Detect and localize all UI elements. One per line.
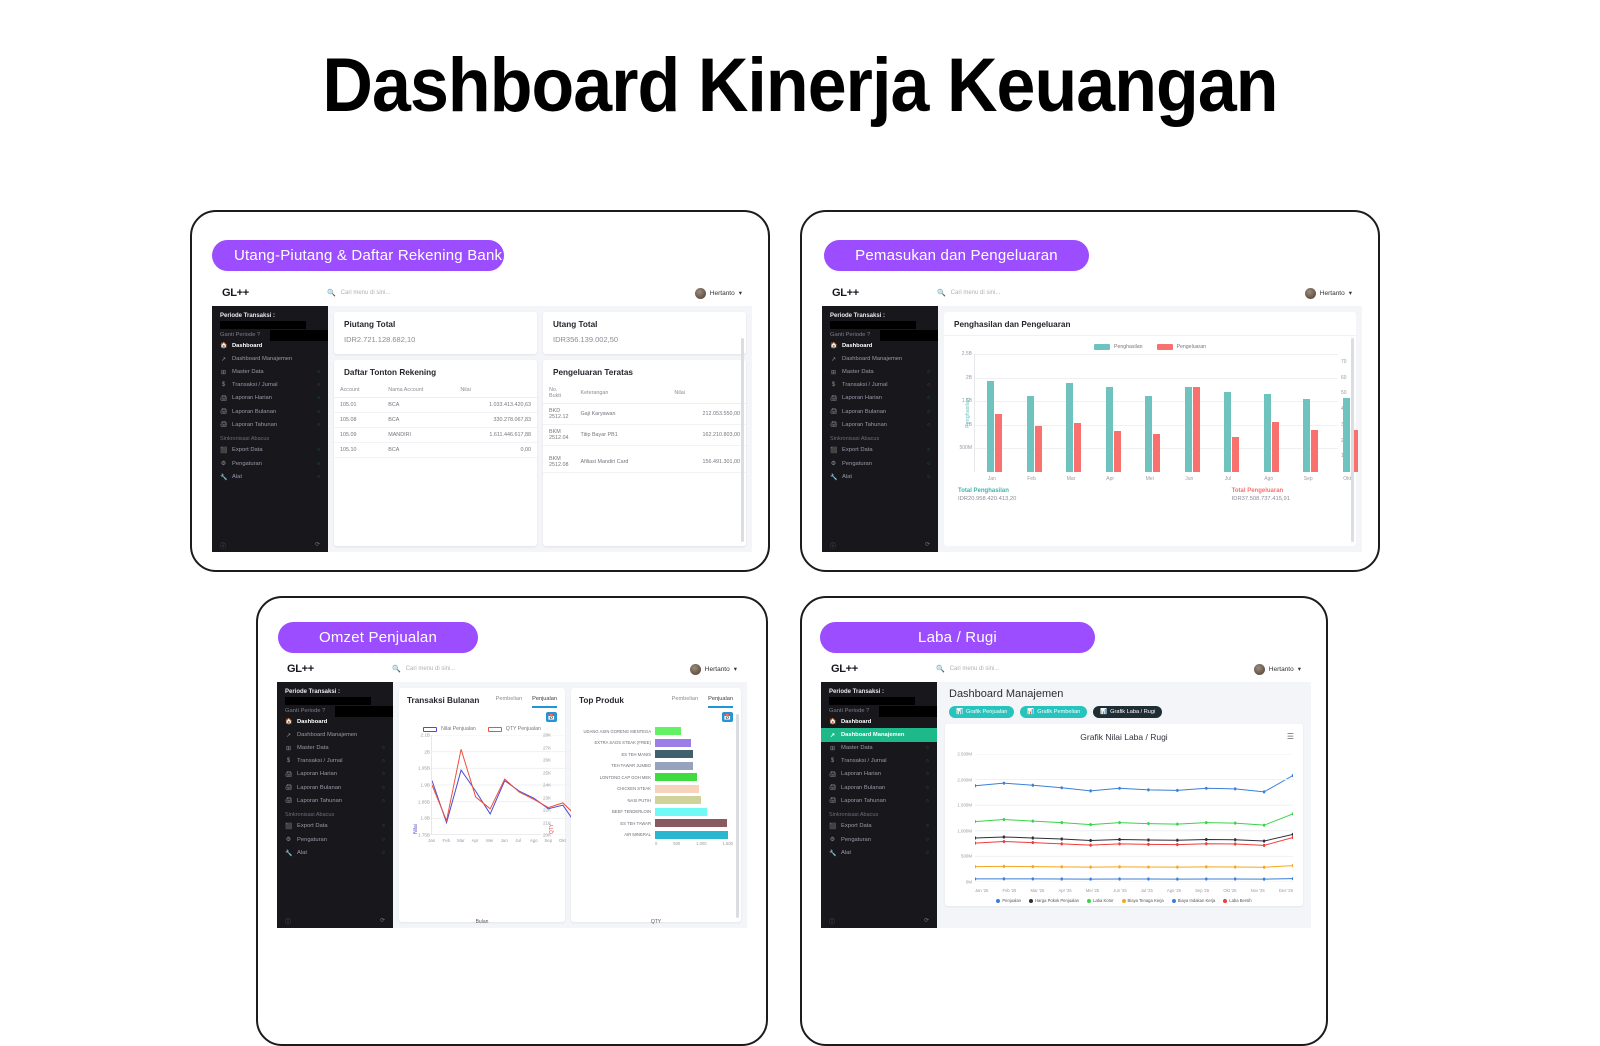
tab-grafik-pembelian[interactable]: 📊Grafik Pembelian	[1020, 706, 1087, 718]
legend-item-qty-penjualan[interactable]: QTY Penjualan	[488, 726, 541, 732]
data-point[interactable]	[1089, 789, 1091, 792]
sidebar-item-badge: ○	[926, 758, 929, 764]
sidebar-item-alat[interactable]: 🔧Alat○	[277, 846, 393, 859]
export-icon: ⬛	[829, 823, 836, 830]
bar-penghasilan[interactable]	[1343, 398, 1350, 472]
tab-pembelian[interactable]: Pembelian	[496, 696, 522, 708]
table-row[interactable]: BKM 2512.08Afiliasi Mandiri Card156.491.…	[543, 446, 746, 473]
sidebar-item-label: Dashboard	[297, 719, 327, 725]
data-point[interactable]	[1003, 877, 1005, 880]
user-menu[interactable]: Hertanto ▾	[690, 664, 737, 675]
bar-group[interactable]	[1145, 396, 1160, 472]
data-point[interactable]	[1118, 821, 1120, 824]
cell-account: 105.08	[334, 413, 382, 428]
user-menu[interactable]: Hertanto ▾	[695, 288, 742, 299]
bar[interactable]	[655, 796, 701, 804]
calendar-icon[interactable]: 📅	[722, 712, 733, 722]
chart-line-icon: ↗	[285, 732, 292, 739]
gridline	[975, 354, 1338, 355]
bar-pengeluaran[interactable]	[995, 414, 1002, 472]
data-point[interactable]	[1061, 786, 1063, 789]
table-row[interactable]: 105.08BCA330.278.067,83	[334, 413, 537, 428]
bar-group[interactable]	[1224, 392, 1239, 472]
sidebar-footer: ⓘ ⟳	[212, 541, 328, 550]
sidebar-item-export-data[interactable]: ⬛Export Data○	[212, 444, 328, 457]
data-point[interactable]	[1205, 842, 1207, 845]
refresh-icon[interactable]: ⟳	[380, 917, 385, 926]
bar-pengeluaran[interactable]	[1232, 437, 1239, 472]
bar-pengeluaran[interactable]	[1193, 387, 1200, 472]
legend-item[interactable]: Laba Kotor	[1087, 898, 1114, 903]
sidebar-item-label: Laporan Tahunan	[297, 798, 342, 804]
bar-penghasilan[interactable]	[1264, 394, 1271, 472]
y-axis-tick: 2.000M	[957, 777, 972, 782]
cell-nilai: 330.278.067,83	[454, 413, 537, 428]
bar-row[interactable]: ES TEH MANIS	[579, 749, 733, 759]
data-point[interactable]	[1118, 838, 1120, 841]
sidebar-period-value-redacted	[220, 321, 306, 329]
bar-group[interactable]	[987, 381, 1002, 472]
data-point[interactable]	[1089, 866, 1091, 869]
sidebar-item-transaksi-jurnal[interactable]: $Transaksi / Jurnal○	[822, 379, 938, 391]
bar-group[interactable]	[1027, 396, 1042, 472]
calendar-icon[interactable]: 📅	[546, 712, 557, 722]
tab-penjualan[interactable]: Penjualan	[532, 696, 557, 708]
bar-penghasilan[interactable]	[1185, 387, 1192, 472]
data-point[interactable]	[1003, 818, 1005, 821]
x-axis-tick: Mei	[1146, 476, 1154, 482]
bar-row[interactable]: ES TEH TAWAR	[579, 818, 733, 828]
chevron-down-icon: ▾	[739, 289, 742, 297]
refresh-icon[interactable]: ⟳	[924, 917, 929, 926]
data-point[interactable]	[1118, 787, 1120, 790]
grid-icon: ⊞	[285, 745, 292, 752]
data-point[interactable]	[1205, 787, 1207, 790]
bar-group[interactable]	[1264, 394, 1279, 472]
sidebar-item-laporan-tahunan[interactable]: 🖨Laporan Tahunan○	[822, 418, 938, 431]
tab-pembelian[interactable]: Pembelian	[672, 696, 698, 708]
bar-penghasilan[interactable]	[1066, 383, 1073, 472]
data-point[interactable]	[1061, 837, 1063, 840]
bar-pengeluaran[interactable]	[1272, 422, 1279, 472]
x-axis-tick: Jan	[988, 476, 996, 482]
sidebar-item-pengaturan[interactable]: ⚙Pengaturan○	[277, 833, 393, 846]
data-point[interactable]	[1176, 839, 1178, 842]
sidebar-item-laporan-bulanan[interactable]: 🖨Laporan Bulanan○	[212, 405, 328, 418]
data-point[interactable]	[975, 865, 976, 868]
sidebar-item-badge: ○	[317, 395, 320, 401]
data-point[interactable]	[1147, 788, 1149, 791]
table-row[interactable]: BKM 2512.04Titip Bayar PB1162.210.803,00	[543, 425, 746, 446]
legend-item[interactable]: Laba Bersih	[1223, 898, 1251, 903]
data-point[interactable]	[1263, 866, 1265, 869]
data-point[interactable]	[1234, 877, 1236, 880]
sidebar-change-period[interactable]: Ganti Periode ?	[277, 707, 393, 715]
sidebar-item-badge: ○	[317, 461, 320, 467]
bar-pengeluaran[interactable]	[1074, 423, 1081, 472]
table-row[interactable]: 105.01BCA1.033.413.420,63	[334, 398, 537, 413]
sidebar-period-title: Periode Transaksi :	[277, 687, 393, 696]
data-point[interactable]	[1234, 787, 1236, 790]
x-axis-tick: Nov '25	[1251, 888, 1265, 893]
data-point[interactable]	[1263, 844, 1265, 847]
data-point[interactable]	[1263, 878, 1265, 881]
sidebar-item-laporan-harian[interactable]: 🖨Laporan Harian○	[277, 768, 393, 781]
data-point[interactable]	[975, 836, 976, 839]
sidebar-item-laporan-harian[interactable]: 🖨Laporan Harian○	[212, 392, 328, 405]
data-point[interactable]	[1147, 822, 1149, 825]
sidebar-change-period[interactable]: Ganti Periode ?	[822, 331, 938, 339]
user-name: Hertanto	[1320, 290, 1345, 297]
bar[interactable]	[655, 739, 691, 747]
bar-pengeluaran[interactable]	[1114, 431, 1121, 472]
data-point[interactable]	[1003, 835, 1005, 838]
scrollbar[interactable]	[736, 714, 739, 918]
sidebar-item-laporan-tahunan[interactable]: 🖨Laporan Tahunan○	[821, 794, 937, 807]
data-point[interactable]	[1176, 866, 1178, 869]
table-row[interactable]: 105.09MANDIRI1.611.446.617,88	[334, 428, 537, 443]
bar-penghasilan[interactable]	[1027, 396, 1034, 472]
redaction-block	[879, 706, 937, 717]
avatar	[1305, 288, 1316, 299]
user-name: Hertanto	[705, 666, 730, 673]
bar-pengeluaran[interactable]	[1153, 434, 1160, 472]
data-point[interactable]	[1032, 841, 1034, 844]
data-point[interactable]	[1118, 865, 1120, 868]
bar-group[interactable]	[1303, 399, 1318, 472]
sidebar-item-transaksi-jurnal[interactable]: $Transaksi / Jurnal○	[277, 755, 393, 767]
x-axis-tick: Jan	[428, 838, 435, 843]
search-bar[interactable]: 🔍 Cari menu di sini...	[327, 289, 390, 297]
chart-line-icon: ↗	[829, 732, 836, 739]
data-point[interactable]	[1234, 822, 1236, 825]
cell-keterangan: Gaji Karyawan	[574, 404, 668, 425]
sidebar-item-label: Master Data	[232, 369, 264, 375]
content-area: Transaksi Bulanan Pembelian Penjualan 📅 …	[393, 682, 747, 928]
content-area: Penghasilan dan Pengeluaran Penghasilan …	[938, 306, 1362, 552]
sidebar-item-transaksi-jurnal[interactable]: $Transaksi / Jurnal○	[821, 755, 937, 767]
sidebar-item-export-data[interactable]: ⬛Export Data○	[822, 444, 938, 457]
bar-group[interactable]	[1185, 387, 1200, 472]
cell-no-bukti: BKM 2512.04	[543, 425, 574, 446]
chart-card-penghasilan-pengeluaran: Penghasilan dan Pengeluaran Penghasilan …	[944, 312, 1356, 546]
sidebar-item-export-data[interactable]: ⬛Export Data○	[821, 820, 937, 833]
total-value: IDR37.508.737.415,91	[1232, 496, 1290, 502]
bar-pengeluaran[interactable]	[1035, 426, 1042, 472]
sidebar-item-alat[interactable]: 🔧Alat○	[212, 470, 328, 483]
data-point[interactable]	[1205, 821, 1207, 824]
bar-row[interactable]: NASI PUTIH	[579, 795, 733, 805]
sidebar-item-dashboard-manajemen[interactable]: ↗Dashboard Manajemen	[212, 352, 328, 365]
printer-icon: 🖨	[220, 421, 227, 428]
bar-penghasilan[interactable]	[1145, 396, 1152, 472]
scrollbar[interactable]	[1351, 338, 1354, 542]
sidebar-item-master-data[interactable]: ⊞Master Data○	[277, 742, 393, 755]
grid-icon: ⊞	[220, 369, 227, 376]
gear-icon: ⚙	[220, 460, 227, 467]
data-point[interactable]	[1205, 877, 1207, 880]
bar-penghasilan[interactable]	[987, 381, 994, 472]
sidebar-item-label: Alat	[297, 850, 307, 856]
sidebar-item-pengaturan[interactable]: ⚙Pengaturan○	[821, 833, 937, 846]
y-axis-tick-right: 22K	[543, 808, 551, 813]
data-point[interactable]	[975, 820, 976, 823]
bar[interactable]	[655, 762, 693, 770]
sidebar-item-laporan-bulanan[interactable]: 🖨Laporan Bulanan○	[821, 781, 937, 794]
sidebar-change-period[interactable]: Ganti Periode ?	[821, 707, 937, 715]
sidebar-item-badge: ○	[382, 785, 385, 791]
legend-item-penghasilan[interactable]: Penghasilan	[1094, 344, 1143, 350]
data-point[interactable]	[1089, 839, 1091, 842]
card-piutang-total: Piutang Total IDR2.721.128.682,10	[334, 312, 537, 354]
legend-swatch	[1122, 899, 1126, 903]
bar[interactable]	[655, 750, 693, 758]
legend-label: Penghasilan	[1114, 344, 1143, 350]
data-point[interactable]	[1061, 842, 1063, 845]
legend-label: Laba Bersih	[1229, 898, 1251, 903]
search-bar[interactable]: 🔍 Cari menu di sini...	[392, 665, 455, 673]
total-label: Total Penghasilan	[958, 488, 1016, 494]
sidebar-item-laporan-bulanan[interactable]: 🖨Laporan Bulanan○	[277, 781, 393, 794]
data-point[interactable]	[1147, 877, 1149, 880]
data-point[interactable]	[1234, 838, 1236, 841]
data-point[interactable]	[1032, 865, 1034, 868]
data-point[interactable]	[1176, 823, 1178, 826]
menu-icon[interactable]: ☰	[1287, 732, 1295, 741]
cell-no-bukti: BKD 2512.12	[543, 404, 574, 425]
tab-penjualan[interactable]: Penjualan	[708, 696, 733, 708]
data-point[interactable]	[975, 784, 976, 787]
sidebar-item-label: Laporan Harian	[232, 395, 272, 401]
data-point[interactable]	[1147, 838, 1149, 841]
info-icon[interactable]: ⓘ	[220, 541, 226, 550]
app-topbar: GL++ 🔍 Cari menu di sini... Hertanto ▾	[277, 656, 747, 682]
data-point[interactable]	[1003, 782, 1005, 785]
printer-icon: 🖨	[829, 797, 836, 804]
sidebar-item-label: Transaksi / Jurnal	[297, 758, 343, 764]
search-input[interactable]: Cari menu di sini...	[951, 290, 1001, 296]
data-point[interactable]	[1205, 865, 1207, 868]
search-input[interactable]: Cari menu di sini...	[950, 666, 1000, 672]
legend-item[interactable]: Harga Pokok Penjualan	[1029, 898, 1079, 903]
bar-penghasilan[interactable]	[1303, 399, 1310, 472]
sidebar-section-label: Sinkronisasi Abacus	[212, 432, 328, 444]
data-point[interactable]	[1147, 843, 1149, 846]
sidebar-item-label: Pengaturan	[232, 461, 262, 467]
sidebar-item-laporan-tahunan[interactable]: 🖨Laporan Tahunan○	[277, 794, 393, 807]
data-point[interactable]	[1118, 842, 1120, 845]
info-icon[interactable]: ⓘ	[830, 541, 836, 550]
sidebar-item-master-data[interactable]: ⊞Master Data○	[212, 366, 328, 379]
sidebar-change-period-label: Ganti Periode ?	[220, 332, 260, 338]
data-point[interactable]	[1089, 823, 1091, 826]
info-icon[interactable]: ⓘ	[829, 917, 835, 926]
bar[interactable]	[655, 773, 697, 781]
sidebar-item-label: Pengaturan	[841, 837, 871, 843]
legend-item[interactable]: Biaya Indakan Kerja	[1172, 898, 1215, 903]
data-point[interactable]	[1061, 865, 1063, 868]
scrollbar[interactable]	[741, 338, 744, 542]
sidebar-item-badge: ○	[382, 745, 385, 751]
sidebar-item-dashboard[interactable]: 🏠Dashboard	[212, 339, 328, 352]
data-point[interactable]	[1147, 865, 1149, 868]
tab-grafik-laba-rugi[interactable]: 📊Grafik Laba / Rugi	[1093, 706, 1162, 718]
legend-item[interactable]: Penjualan	[996, 898, 1021, 903]
data-point[interactable]	[1263, 839, 1265, 842]
home-icon: 🏠	[829, 718, 836, 725]
legend-label: Laba Kotor	[1093, 898, 1114, 903]
sidebar-item-badge: ○	[927, 461, 930, 467]
bar-row[interactable]: EXTRA SAOS STEAK (FREE)	[579, 738, 733, 748]
sidebar-item-laporan-harian[interactable]: 🖨Laporan Harian○	[821, 768, 937, 781]
tab-grafik-penjualan[interactable]: 📊Grafik Penjualan	[949, 706, 1014, 718]
legend-item-nilai-penjualan[interactable]: Nilai Penjualan	[423, 726, 476, 732]
col-nama-account: Nama Account	[382, 383, 454, 398]
bar-row[interactable]: LONTONG CAP GOH MEK	[579, 772, 733, 782]
x-axis-tick: Ago	[1264, 476, 1273, 482]
x-axis-tick: Jun '25	[1113, 888, 1126, 893]
data-point[interactable]	[1234, 865, 1236, 868]
y-axis-tick-left: 1.5B	[962, 398, 972, 404]
chevron-down-icon: ▾	[734, 665, 737, 673]
table-row[interactable]: 105.10BCA0,00	[334, 443, 537, 458]
y-axis-tick-left: 2B	[424, 749, 430, 754]
bar[interactable]	[655, 831, 728, 839]
sidebar-item-pengaturan[interactable]: ⚙Pengaturan○	[212, 457, 328, 470]
sidebar-item-dashboard-manajemen[interactable]: ↗Dashboard Manajemen	[822, 352, 938, 365]
bar-penghasilan[interactable]	[1106, 387, 1113, 472]
bar-pengeluaran[interactable]	[1311, 430, 1318, 472]
sidebar-item-dashboard[interactable]: 🏠Dashboard	[277, 715, 393, 728]
gear-icon: ⚙	[285, 836, 292, 843]
sidebar-period-title: Periode Transaksi :	[821, 687, 937, 696]
sidebar-item-dashboard-manajemen[interactable]: ↗Dashboard Manajemen	[821, 728, 937, 741]
sidebar-item-dashboard[interactable]: 🏠Dashboard	[822, 339, 938, 352]
data-point[interactable]	[1292, 833, 1293, 836]
sidebar-item-badge: ○	[317, 369, 320, 375]
data-point[interactable]	[1205, 838, 1207, 841]
search-input[interactable]: Cari menu di sini...	[406, 666, 456, 672]
x-axis-tick: Mar	[457, 838, 465, 843]
bar-row[interactable]: AIR MINERAL	[579, 830, 733, 840]
sidebar-item-badge: ○	[927, 409, 930, 415]
data-point[interactable]	[1089, 877, 1091, 880]
search-input[interactable]: Cari menu di sini...	[341, 290, 391, 296]
legend-item[interactable]: Biaya Tenaga Kerja	[1122, 898, 1164, 903]
info-icon[interactable]: ⓘ	[285, 917, 291, 926]
sidebar-item-pengaturan[interactable]: ⚙Pengaturan○	[822, 457, 938, 470]
data-point[interactable]	[1032, 877, 1034, 880]
sidebar-item-dashboard[interactable]: 🏠Dashboard	[821, 715, 937, 728]
legend-item-pengeluaran[interactable]: Pengeluaran	[1157, 344, 1206, 350]
data-point[interactable]	[1292, 864, 1293, 867]
bar-row[interactable]: TEH TAWAR JUMBO	[579, 761, 733, 771]
sidebar-item-alat[interactable]: 🔧Alat○	[821, 846, 937, 859]
bar-group[interactable]	[1106, 387, 1121, 472]
export-icon: ⬛	[830, 447, 837, 454]
y-axis-tick: 500M	[961, 854, 972, 859]
data-point[interactable]	[1292, 812, 1293, 815]
data-point[interactable]	[1176, 877, 1178, 880]
data-point[interactable]	[1003, 840, 1005, 843]
data-point[interactable]	[1234, 842, 1236, 845]
bar-group[interactable]	[1066, 383, 1081, 472]
y-axis-tick-left: 1.95B	[418, 766, 430, 771]
data-point[interactable]	[1003, 865, 1005, 868]
dollar-icon: $	[830, 382, 837, 388]
data-point[interactable]	[1263, 824, 1265, 827]
data-point[interactable]	[1032, 819, 1034, 822]
bar-row[interactable]: BEEF TENDERLOIN	[579, 807, 733, 817]
user-menu[interactable]: Hertanto ▾	[1305, 288, 1352, 299]
sidebar-item-export-data[interactable]: ⬛Export Data○	[277, 820, 393, 833]
data-point[interactable]	[975, 841, 976, 844]
data-point[interactable]	[1061, 821, 1063, 824]
sidebar-change-period-label: Ganti Periode ?	[285, 708, 325, 714]
sidebar-period-value-redacted	[829, 697, 915, 705]
data-point[interactable]	[1292, 877, 1293, 880]
data-point[interactable]	[1061, 877, 1063, 880]
cards-wrapper: Transaksi Bulanan Pembelian Penjualan 📅 …	[399, 688, 741, 922]
data-point[interactable]	[1176, 843, 1178, 846]
bar[interactable]	[655, 785, 699, 793]
user-menu[interactable]: Hertanto ▾	[1254, 664, 1301, 675]
data-point[interactable]	[975, 877, 976, 880]
export-icon: ⬛	[285, 823, 292, 830]
sidebar-item-master-data[interactable]: ⊞Master Data○	[821, 742, 937, 755]
data-point[interactable]	[1176, 789, 1178, 792]
cell-nama: BCA	[382, 398, 454, 413]
search-bar[interactable]: 🔍 Cari menu di sini...	[936, 665, 999, 673]
total-label: Total Pengeluaran	[1232, 488, 1290, 494]
sidebar-item-laporan-bulanan[interactable]: 🖨Laporan Bulanan○	[822, 405, 938, 418]
data-point[interactable]	[1089, 844, 1091, 847]
bar-row[interactable]: CHICKEN STEAK	[579, 784, 733, 794]
data-point[interactable]	[1263, 790, 1265, 793]
x-axis-tick: Mar	[1067, 476, 1076, 482]
refresh-icon[interactable]: ⟳	[315, 541, 320, 550]
data-point[interactable]	[1118, 877, 1120, 880]
card-title: Top Produk	[579, 696, 624, 705]
bar[interactable]	[655, 727, 681, 735]
bar[interactable]	[655, 808, 707, 816]
bar-penghasilan[interactable]	[1224, 392, 1231, 472]
sidebar-item-transaksi-jurnal[interactable]: $Transaksi / Jurnal○	[212, 379, 328, 391]
bar-row[interactable]: UDANG ASIN GORENG MENTEGA	[579, 726, 733, 736]
data-point[interactable]	[1032, 836, 1034, 839]
sidebar-change-period[interactable]: Ganti Periode ?	[212, 331, 328, 339]
sidebar-item-laporan-tahunan[interactable]: 🖨Laporan Tahunan○	[212, 418, 328, 431]
sidebar-item-laporan-harian[interactable]: 🖨Laporan Harian○	[822, 392, 938, 405]
sidebar-item-label: Master Data	[297, 745, 329, 751]
sidebar-item-alat[interactable]: 🔧Alat○	[822, 470, 938, 483]
line-chart-svg	[975, 754, 1293, 882]
data-point[interactable]	[1032, 784, 1034, 787]
app-body: Periode Transaksi : Ganti Periode ? 🏠Das…	[277, 682, 747, 928]
search-bar[interactable]: 🔍 Cari menu di sini...	[937, 289, 1000, 297]
sidebar-item-master-data[interactable]: ⊞Master Data○	[822, 366, 938, 379]
dollar-icon: $	[829, 758, 836, 764]
printer-icon: 🖨	[285, 797, 292, 804]
sidebar-item-label: Laporan Harian	[842, 395, 882, 401]
sidebar-item-dashboard-manajemen[interactable]: ↗Dashboard Manajemen	[277, 728, 393, 741]
sidebar-item-badge: ○	[927, 422, 930, 428]
table-row[interactable]: BKD 2512.12Gaji Karyawan212.053.550,00	[543, 404, 746, 425]
refresh-icon[interactable]: ⟳	[925, 541, 930, 550]
search-icon: 🔍	[327, 289, 336, 297]
data-point[interactable]	[1292, 836, 1293, 839]
bar[interactable]	[655, 819, 727, 827]
